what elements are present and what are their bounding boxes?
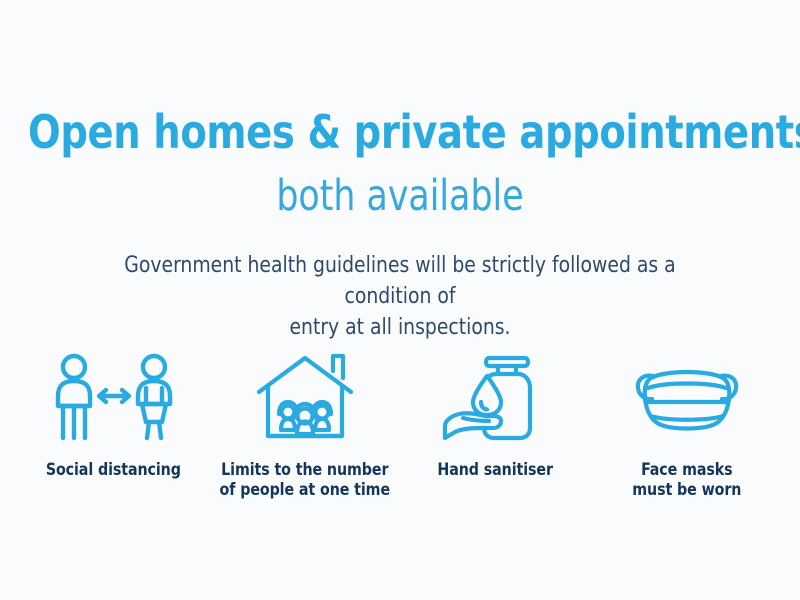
- label-line-1: Limits to the number: [219, 460, 389, 480]
- label-line-1: Face masks: [632, 460, 741, 480]
- social-distancing-icon: [50, 352, 178, 444]
- body-copy: Government health guidelines will be str…: [80, 250, 720, 343]
- body-copy-line-2: entry at all inspections.: [96, 312, 704, 343]
- house-occupancy-limit-icon: [255, 352, 355, 444]
- safety-measure-occupancy-limit: Limits to the number of people at one ti…: [209, 352, 400, 500]
- hand-sanitiser-icon: [441, 352, 551, 444]
- safety-measure-label: Hand sanitiser: [435, 460, 555, 480]
- safety-measure-label: Limits to the number of people at one ti…: [216, 460, 394, 500]
- label-line-1: Hand sanitiser: [438, 460, 554, 480]
- label-line-1: Social distancing: [46, 460, 181, 480]
- safety-measure-face-mask: Face masks must be worn: [591, 352, 782, 500]
- covid-safety-poster: Open homes & private appointments both a…: [0, 0, 800, 600]
- safety-measure-label: Face masks must be worn: [630, 460, 744, 500]
- safety-measures-row: Social distancing: [18, 352, 782, 500]
- safety-measure-hand-sanitiser: Hand sanitiser: [400, 352, 591, 480]
- safety-measure-label: Social distancing: [43, 460, 184, 480]
- face-mask-icon: [635, 352, 739, 444]
- body-copy-line-1: Government health guidelines will be str…: [96, 250, 704, 312]
- safety-measure-social-distancing: Social distancing: [18, 352, 209, 480]
- headline-secondary: both available: [40, 170, 760, 222]
- label-line-2: must be worn: [632, 480, 741, 500]
- headline-primary: Open homes & private appointments: [28, 104, 772, 160]
- label-line-2: of people at one time: [219, 480, 389, 500]
- headline-block: Open homes & private appointments both a…: [0, 104, 800, 222]
